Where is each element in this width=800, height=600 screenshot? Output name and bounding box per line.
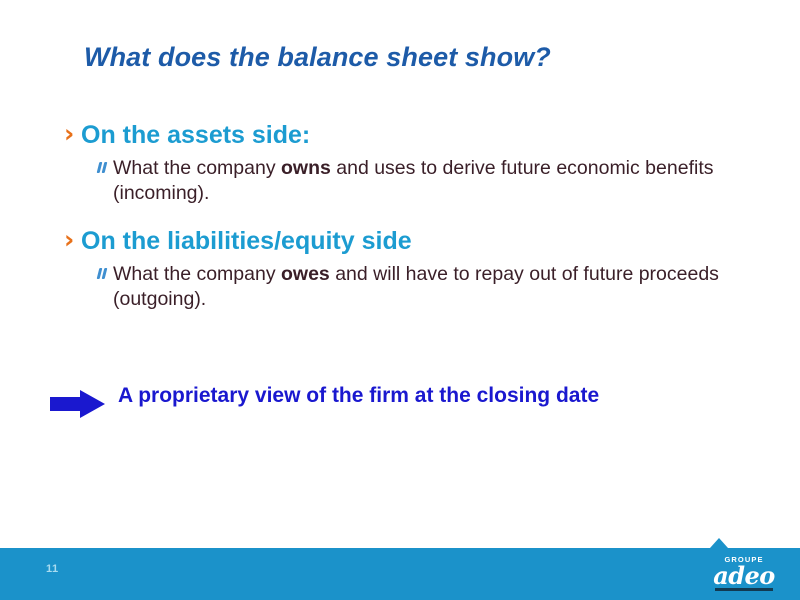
sub-bullet-text-liabilities: What the company owes and will have to r…	[113, 262, 733, 312]
logo-adeo-text: adeo	[706, 563, 782, 588]
chevron-right-icon: ›	[64, 119, 81, 149]
group-spacer	[64, 206, 764, 226]
chevron-right-icon: ›	[64, 225, 81, 255]
sub-bullet-text-liabilities-prefix: What the company	[113, 263, 281, 285]
conclusion-row: A proprietary view of the firm at the cl…	[50, 381, 770, 419]
sub-bullet-row-assets: What the company owns and uses to derive…	[97, 153, 764, 206]
block-arrow-right-icon	[50, 381, 118, 419]
conclusion-text: A proprietary view of the firm at the cl…	[118, 381, 763, 410]
bullet-heading-assets: On the assets side:	[81, 120, 764, 151]
bullet-heading-row-assets: › On the assets side:	[64, 120, 764, 151]
bullet-group-liabilities: › On the liabilities/equity side What th…	[64, 226, 764, 312]
bullet-group-assets: › On the assets side: What the company o…	[64, 120, 764, 206]
double-stroke-icon	[97, 268, 113, 288]
sub-bullet-emphasis-owns: owns	[281, 157, 331, 179]
footer-bar: 11 GROUPE adeo	[0, 548, 800, 600]
slide-canvas: What does the balance sheet show? › On t…	[0, 0, 800, 600]
footer-notch	[710, 538, 728, 548]
sub-bullet-emphasis-owes: owes	[281, 263, 330, 285]
page-number: 11	[46, 563, 59, 575]
bullet-heading-liabilities: On the liabilities/equity side	[81, 226, 764, 257]
sub-bullet-text-assets: What the company owns and uses to derive…	[113, 156, 733, 206]
sub-bullet-row-liabilities: What the company owes and will have to r…	[97, 259, 764, 312]
groupe-adeo-logo: GROUPE adeo	[706, 552, 782, 598]
slide-body: › On the assets side: What the company o…	[64, 120, 764, 312]
double-stroke-icon	[97, 162, 113, 182]
page-title: What does the balance sheet show?	[84, 40, 744, 74]
sub-bullet-text-assets-prefix: What the company	[113, 157, 281, 179]
bullet-heading-row-liabilities: › On the liabilities/equity side	[64, 226, 764, 257]
